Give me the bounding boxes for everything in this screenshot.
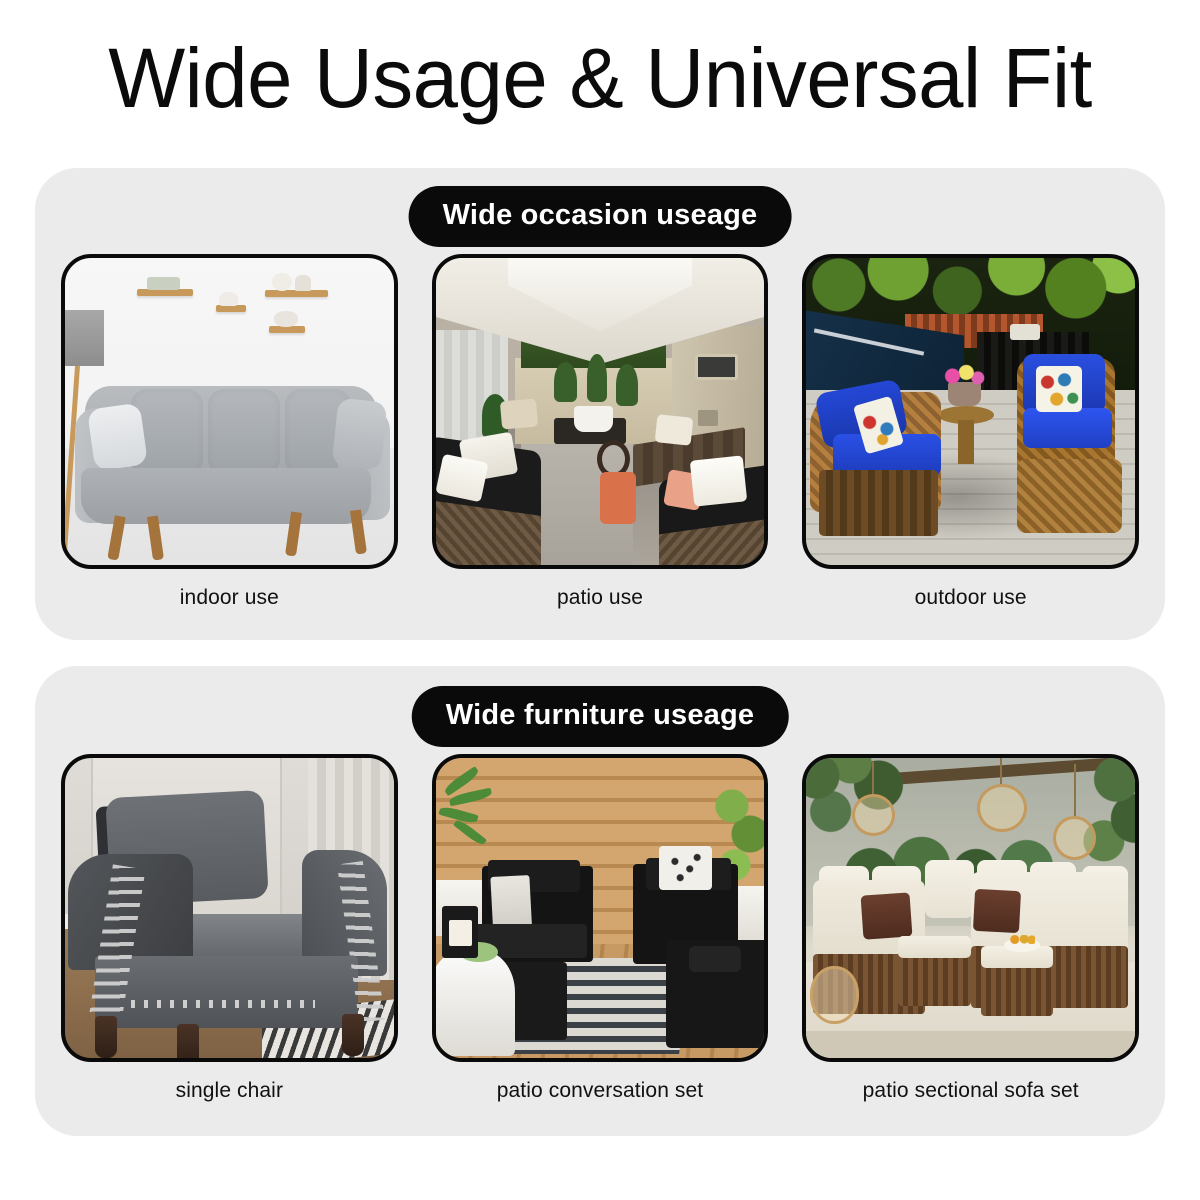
photo-patio-conversation-set xyxy=(432,754,769,1062)
oranges xyxy=(1008,935,1034,944)
section-header-pill-furniture: Wide furniture useage xyxy=(412,686,789,747)
brown-pillow xyxy=(861,892,913,939)
shelf-decor-vase xyxy=(219,292,237,306)
stone-patio xyxy=(806,1031,1135,1058)
card-caption: indoor use xyxy=(180,586,279,610)
patterned-pillow xyxy=(659,846,712,890)
floral-pillow xyxy=(1036,366,1082,412)
lantern-string xyxy=(1074,764,1076,818)
wall-shelf-icon xyxy=(265,290,327,297)
hanging-lantern xyxy=(852,794,895,836)
shelf-decor-plant xyxy=(147,277,180,290)
side-table-leg xyxy=(958,420,974,464)
card-caption: patio sectional sofa set xyxy=(863,1079,1079,1103)
card-single-chair: single chair xyxy=(61,754,398,1103)
wall-shelf-icon xyxy=(137,289,193,296)
wall-outlet xyxy=(698,410,718,426)
shelf-decor-pot xyxy=(274,311,299,327)
lantern-string xyxy=(872,762,874,796)
card-caption: outdoor use xyxy=(915,586,1027,610)
ottoman-base xyxy=(981,960,1053,1016)
card-caption: patio use xyxy=(557,586,643,610)
blue-seat-cushion xyxy=(1023,408,1112,448)
card-indoor-use: indoor use xyxy=(61,254,398,610)
card-caption: single chair xyxy=(176,1079,283,1103)
chair-leg xyxy=(342,1014,364,1056)
sofa-seat xyxy=(81,468,370,524)
infographic-page: Wide Usage & Universal Fit Wide occasion… xyxy=(0,0,1200,1200)
ottoman-base xyxy=(898,950,970,1006)
lantern-string xyxy=(1000,758,1002,786)
wall-vent xyxy=(695,354,738,380)
wicker-chair-base xyxy=(819,470,937,536)
section-wide-furniture-useage: Wide furniture useage xyxy=(35,666,1165,1136)
throw-pillow xyxy=(331,398,387,471)
sofa-back-cushion xyxy=(208,389,280,475)
throw-pillow xyxy=(655,414,694,446)
wicker-ottoman xyxy=(1017,459,1122,533)
card-patio-use: patio use xyxy=(432,254,769,610)
card-outdoor-use: outdoor use xyxy=(802,254,1139,610)
photo-outdoor-use xyxy=(802,254,1139,569)
brown-pillow xyxy=(973,889,1021,933)
potted-plant xyxy=(554,362,577,402)
chair-base xyxy=(95,956,358,1028)
photo-indoor-use xyxy=(61,254,398,569)
section-wide-occasion-useage: Wide occasion useage xyxy=(35,168,1165,640)
photo-single-chair xyxy=(61,754,398,1062)
shelf-decor-jar xyxy=(295,275,311,291)
shelf-decor-bowl xyxy=(272,273,292,291)
sofa-back-cushion xyxy=(925,860,974,918)
wall-shelf-icon xyxy=(216,305,246,312)
potted-plant xyxy=(616,364,637,406)
flowers xyxy=(941,364,987,388)
furniture-card-grid: single chair xyxy=(61,754,1139,1103)
occasion-card-grid: indoor use xyxy=(61,254,1139,610)
chair-leg xyxy=(177,1024,199,1062)
photo-patio-use xyxy=(432,254,769,569)
hanging-lantern xyxy=(977,784,1026,832)
card-patio-conversation-set: patio conversation set xyxy=(432,754,769,1103)
marble-side-table xyxy=(432,950,515,1056)
nailhead-trim xyxy=(131,1000,315,1008)
card-patio-sectional-sofa-set: patio sectional sofa set xyxy=(802,754,1139,1103)
hanging-lantern xyxy=(1053,816,1096,860)
wall-shelf-icon xyxy=(269,326,305,333)
pillar-candle xyxy=(449,920,472,946)
white-planter xyxy=(574,406,613,432)
floor-lantern xyxy=(810,966,859,1024)
floor-lamp-shade xyxy=(61,310,104,366)
potted-plant xyxy=(587,354,607,402)
page-title: Wide Usage & Universal Fit xyxy=(18,36,1182,120)
card-caption: patio conversation set xyxy=(497,1079,704,1103)
ottoman-cushion xyxy=(898,936,970,958)
throw-pillow xyxy=(500,398,538,429)
photo-patio-sectional-sofa-set xyxy=(802,754,1139,1062)
chair-armrest xyxy=(689,946,742,972)
section-header-pill-occasion: Wide occasion useage xyxy=(409,186,792,247)
chair-leg xyxy=(95,1016,117,1058)
throw-pillow xyxy=(690,455,747,506)
fence-post-cap xyxy=(1010,324,1040,340)
orange-chair-seat xyxy=(600,472,636,524)
throw-pillow xyxy=(87,403,148,472)
